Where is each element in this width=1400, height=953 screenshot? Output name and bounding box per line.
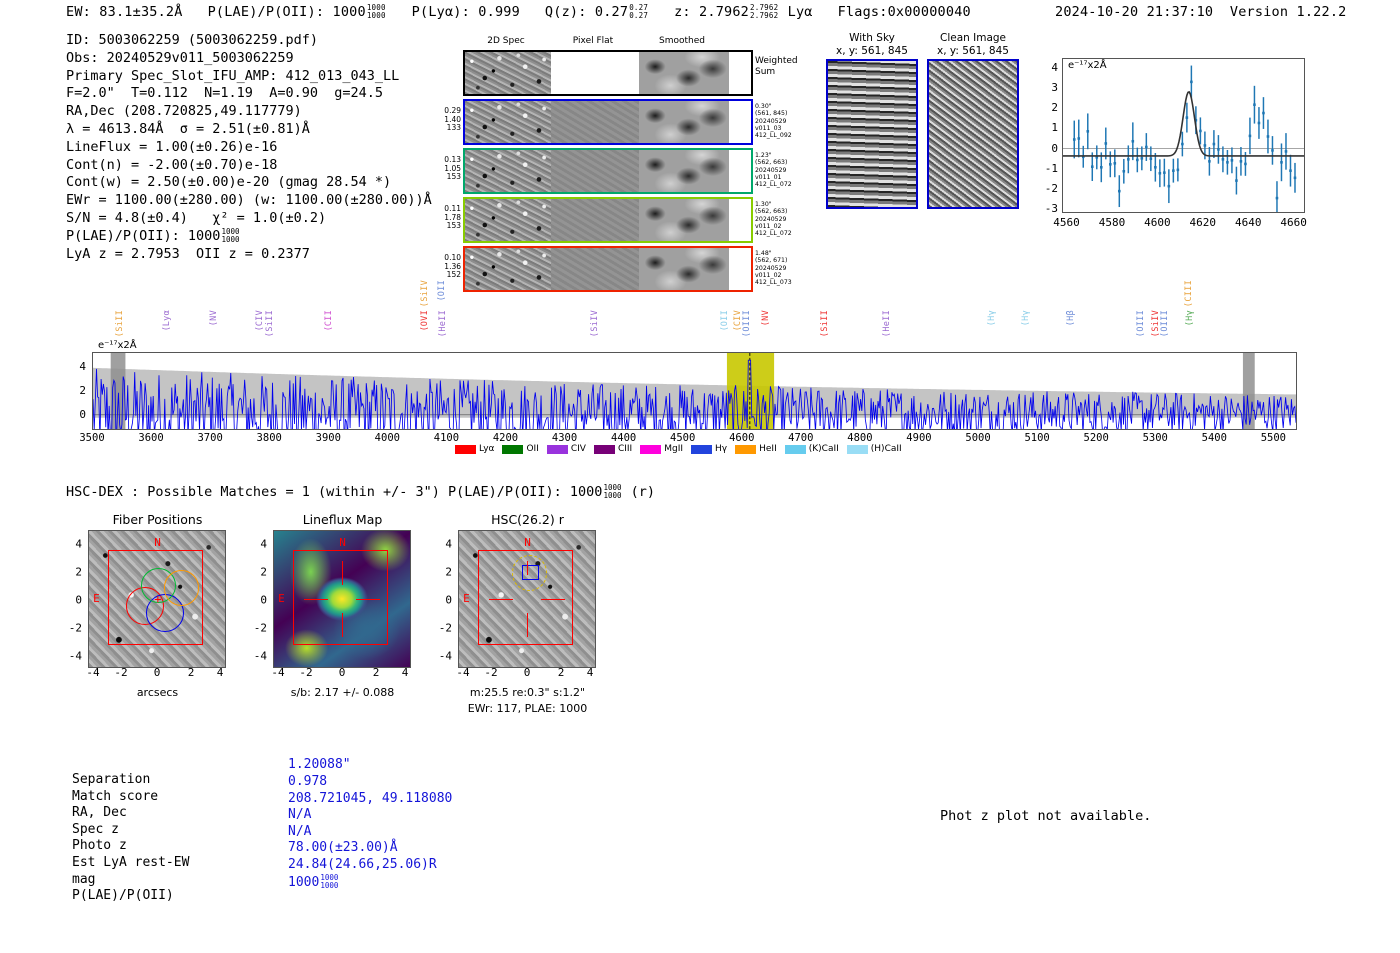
lfm-xtick-0: -4: [271, 666, 284, 679]
legend-item: Hγ: [691, 444, 727, 454]
legend-item: MgII: [640, 444, 683, 454]
match-value: 78.00(±23.00)Å: [288, 840, 398, 857]
legend-swatch: [691, 445, 712, 454]
line-marker: OII(: [437, 280, 447, 302]
weighted-sum-smoothed: [639, 52, 729, 94]
cutout-with-sky: With Sky x, y: 561, 845: [826, 32, 918, 209]
info-line-seeing: F=2.0" T=0.112 N=1.19 A=0.90 g=24.5: [66, 85, 432, 103]
header-z-type: Lyα: [788, 4, 813, 20]
line-marker: SiII(: [265, 310, 275, 337]
line-marker-label: Lyα: [162, 310, 172, 326]
compass-east-label: E: [93, 592, 100, 605]
fiber-2dspec: [465, 199, 551, 241]
hsc-ytick-0: 4: [430, 538, 452, 551]
zoom-ytick: 0: [1040, 142, 1058, 155]
weighted-sum-pixelflat: [551, 52, 639, 94]
legend-item: (K)CaII: [785, 444, 839, 454]
line-marker: SiIV(: [420, 280, 430, 307]
fiber-smoothed: [639, 150, 729, 192]
spec-xtick: 4200: [493, 432, 518, 444]
legend-label: (K)CaII: [809, 444, 839, 454]
with-sky-image: [826, 59, 918, 209]
line-marker-bracket: (: [437, 296, 447, 301]
fiber-pixelflat: [551, 199, 639, 241]
hsc-xtick-1: -2: [484, 666, 497, 679]
lfm-compass-east: E: [278, 592, 285, 605]
header-plae-label: P(LAE)/P(OII): 1000: [208, 4, 366, 20]
fiber-pixelflat: [551, 101, 639, 143]
line-marker-bracket: (: [590, 332, 600, 337]
line-marker-bracket: (: [420, 326, 430, 331]
legend-label: MgII: [664, 444, 683, 454]
source-info-block: ID: 5003062259 (5003062259.pdf) Obs: 202…: [66, 32, 432, 263]
fiber-2dspec: [465, 150, 551, 192]
line-zoom-units: e⁻¹⁷x2Å: [1068, 60, 1107, 71]
fiber-positions-image[interactable]: + N E: [88, 530, 226, 668]
hsc-xtick-2: 0: [524, 666, 531, 679]
legend-label: (H)CaII: [871, 444, 902, 454]
zoom-ytick: 2: [1040, 101, 1058, 114]
line-marker: Hβ(: [1066, 310, 1076, 326]
header-timestamp-version: 2024-10-20 21:37:10 Version 1.22.2: [1055, 4, 1346, 20]
fp-xtick-4: 4: [217, 666, 224, 679]
twod-spec-montage: 2D Spec Pixel Flat Smoothed Weighted Sum…: [463, 36, 753, 295]
line-marker: CII(: [324, 310, 334, 332]
match-label: Separation: [72, 772, 150, 789]
hsc-xtick-0: -4: [456, 666, 469, 679]
legend-label: CIV: [571, 444, 586, 454]
line-marker-label: SiII: [265, 310, 275, 332]
info-line-lambda: λ = 4613.84Å σ = 2.51(±0.81)Å: [66, 121, 432, 139]
legend-swatch: [847, 445, 868, 454]
lfm-ytick-1: 2: [245, 566, 267, 579]
weighted-sum-2dspec: [465, 52, 551, 94]
match-value: 100010001000: [288, 874, 339, 892]
lfm-ytick-0: 4: [245, 538, 267, 551]
hsc-ytick-3: -2: [430, 622, 452, 635]
clean-image-coords: x, y: 561, 845: [927, 45, 1019, 58]
hsc-ytick-2: 0: [430, 594, 452, 607]
hsc-xtick-3: 2: [558, 666, 565, 679]
spec-xtick: 5100: [1024, 432, 1049, 444]
info-line-radec: RA,Dec (208.720825,49.117779): [66, 103, 432, 121]
legend-item: CIII: [594, 444, 632, 454]
info-line-ewr: EWr = 1100.00(±280.00) (w: 1100.00(±280.…: [66, 192, 432, 210]
spec-xtick: 4500: [670, 432, 695, 444]
info-line-z: LyA z = 2.7953 OII z = 0.2377: [66, 246, 432, 264]
hsc-r-metrics: m:25.5 re:0.3" s:1.2": [430, 686, 625, 699]
legend-swatch: [547, 445, 568, 454]
line-marker-label: Hγ: [987, 310, 997, 321]
line-marker-bracket: (: [1136, 332, 1146, 337]
line-marker: Hγ(: [1185, 310, 1195, 326]
line-zoom-plot: e⁻¹⁷x2Å 456045804600462046404660 -3-2-10…: [1040, 50, 1305, 235]
line-marker-bracket: (: [1160, 332, 1170, 337]
spec-xtick: 5000: [965, 432, 990, 444]
header-z-fraction: 2.79622.7962: [750, 4, 778, 20]
fiber-smoothed: [639, 101, 729, 143]
info-line-contw: Cont(w) = 2.50(±0.00)e-20 (gmag 28.54 *): [66, 174, 432, 192]
legend-label: Hγ: [715, 444, 727, 454]
match-label: Photo z: [72, 838, 127, 855]
line-marker-bracket: (: [720, 326, 730, 331]
panel-fiber-positions: Fiber Positions + N E -4 -2 0 2 4 4 2 0 …: [60, 512, 255, 699]
line-marker-bracket: (: [1184, 302, 1194, 307]
fp-ytick-4: -4: [60, 650, 82, 663]
line-marker: NV(: [761, 310, 771, 326]
header-plya: P(Lyα): 0.999: [412, 4, 520, 20]
line-marker-label: SiIV: [420, 280, 430, 302]
hscdex-text: HSC-DEX : Possible Matches = 1 (within +…: [66, 484, 602, 500]
line-marker-bracket: (: [255, 326, 265, 331]
legend-label: Lyα: [479, 444, 494, 454]
line-marker: SiIV(: [590, 310, 600, 337]
line-marker-bracket: (: [1066, 321, 1076, 326]
weighted-sum-label: Weighted Sum: [755, 56, 815, 78]
fiber-smoothed: [639, 199, 729, 241]
header-qz: Q(z): 0.27: [545, 4, 628, 20]
lfm-xtick-3: 2: [373, 666, 380, 679]
spec-xtick: 4700: [788, 432, 813, 444]
clean-image-image: [927, 59, 1019, 209]
fiber-row-values: 0.291.40133: [431, 107, 461, 133]
zoom-xtick: 4580: [1099, 216, 1126, 229]
line-marker-bracket: (: [742, 332, 752, 337]
line-marker-label: HeII: [882, 310, 892, 332]
panel-lineflux-map: Lineflux Map N E -4 -2 0 2 4 4 2 0 -2 -4…: [245, 512, 440, 699]
spec-xtick: 4100: [434, 432, 459, 444]
hscdex-plae-fraction: 10001000: [603, 484, 621, 500]
version: Version 1.22.2: [1230, 4, 1347, 20]
legend-item: HeII: [735, 444, 777, 454]
line-marker-label: SiII: [820, 310, 830, 332]
clean-image-title: Clean Image: [927, 32, 1019, 45]
spec-xtick: 5300: [1143, 432, 1168, 444]
fiber-pixelflat: [551, 150, 639, 192]
lfm-xtick-1: -2: [299, 666, 312, 679]
spec-xtick: 5200: [1084, 432, 1109, 444]
compass-north-label: N: [154, 536, 161, 549]
lfm-compass-north: N: [339, 536, 346, 549]
lineflux-map-title: Lineflux Map: [245, 512, 440, 527]
hsc-crosshair-top: [527, 561, 528, 575]
line-marker-label: OII: [720, 310, 730, 326]
lfm-ytick-4: -4: [245, 650, 267, 663]
zoom-ytick: 3: [1040, 81, 1058, 94]
line-marker-bracket: (: [987, 321, 997, 326]
zoom-xtick: 4640: [1235, 216, 1262, 229]
header-summary-line: EW: 83.1±35.2Å P(LAE)/P(OII): 1000100010…: [66, 4, 971, 20]
hsc-crosshair-right: [541, 599, 565, 600]
montage-fiber-row: 0.111.781531.30"(562, 663)20240529v011_0…: [463, 197, 753, 243]
fiber-positions-xlabel: arcsecs: [60, 686, 255, 699]
spec-xtick: 3700: [197, 432, 222, 444]
line-marker-label: SiII: [115, 310, 125, 332]
hsc-compass-east: E: [463, 592, 470, 605]
line-marker-label: CIII: [1184, 280, 1194, 302]
line-marker-bracket: (: [438, 332, 448, 337]
zoom-xtick: 4600: [1144, 216, 1171, 229]
fp-ytick-3: -2: [60, 622, 82, 635]
hsc-r-image[interactable]: N E: [458, 530, 596, 668]
hscdex-summary: HSC-DEX : Possible Matches = 1 (within +…: [66, 484, 655, 500]
montage-col-pixelflat: Pixel Flat: [549, 36, 637, 46]
match-value: 24.84(24.66,25.06)R: [288, 857, 437, 874]
with-sky-title: With Sky: [826, 32, 918, 45]
spec-xtick: 4600: [729, 432, 754, 444]
hsc-ytick-1: 2: [430, 566, 452, 579]
fiber-row-values: 0.101.36152: [431, 254, 461, 280]
line-marker-label: OIII: [742, 310, 752, 332]
line-marker: OIII(: [1136, 310, 1146, 337]
line-marker: NV(: [209, 310, 219, 326]
full-spectrum-svg: [93, 353, 1296, 429]
line-marker-bracket: (: [882, 332, 892, 337]
line-marker: OIII(: [1160, 310, 1170, 337]
lfm-xtick-2: 0: [339, 666, 346, 679]
montage-fiber-rows: 0.291.401330.30"(561, 845)20240529v011_0…: [463, 99, 753, 292]
fiber-circle-orange: [164, 570, 199, 605]
spec-ytick: 0: [68, 408, 86, 421]
line-marker-bracket: (: [761, 321, 771, 326]
cutout-clean-image: Clean Image x, y: 561, 845: [927, 32, 1019, 209]
hsc-r-ewr-plae: EWr: 117, PLAE: 1000: [430, 702, 625, 715]
spec-xtick: 4000: [375, 432, 400, 444]
hsc-compass-north: N: [524, 536, 531, 549]
legend-swatch: [785, 445, 806, 454]
fp-xtick-1: -2: [114, 666, 127, 679]
fp-xtick-0: -4: [86, 666, 99, 679]
line-marker-bracket: (: [324, 326, 334, 331]
info-line-sn: S/N = 4.8(±0.4) χ² = 1.0(±0.2): [66, 210, 432, 228]
line-marker-label: OVI: [420, 310, 430, 326]
line-marker-bracket: (: [209, 321, 219, 326]
panel-hsc-r: HSC(26.2) r N E -4 -2 0 2 4 4 2 0 -2 -4 …: [430, 512, 625, 715]
match-value: 208.721045, 49.118080: [288, 791, 452, 808]
line-marker-label: OIII: [1160, 310, 1170, 332]
zoom-ytick: 1: [1040, 121, 1058, 134]
spec-xtick: 4300: [552, 432, 577, 444]
line-marker-bracket: (: [1021, 321, 1031, 326]
zoom-xtick: 4660: [1280, 216, 1307, 229]
fiber-positions-title: Fiber Positions: [60, 512, 255, 527]
line-marker-bracket: (: [162, 326, 172, 331]
info-line-obs: Obs: 20240529v011_5003062259: [66, 50, 432, 68]
legend-swatch: [502, 445, 523, 454]
line-marker: OII(: [720, 310, 730, 332]
match-label: P(LAE)/P(OII): [72, 888, 174, 905]
lfm-fov-box: [293, 550, 388, 645]
legend-label: HeII: [759, 444, 777, 454]
fiber-row-meta: 1.23"(562, 663)20240529v011_01412_LL_072: [755, 152, 811, 188]
photz-unavailable-message: Phot z plot not available.: [940, 808, 1151, 824]
match-label: Match score: [72, 789, 158, 806]
lfm-crosshair-left: [304, 599, 328, 600]
zoom-xtick: 4620: [1190, 216, 1217, 229]
fiber-row-meta: 1.30"(562, 663)20240529v011_02412_LL_072: [755, 201, 811, 237]
emission-line-markers: SiII(Lyα(NV(CIV(SiII(CII(SiIV(OII(OVI(He…: [92, 280, 1297, 352]
line-marker-label: NV: [209, 310, 219, 321]
spec-xtick: 5400: [1202, 432, 1227, 444]
match-label: RA, Dec: [72, 805, 127, 822]
match-value: 0.978: [288, 774, 327, 791]
fp-xtick-3: 2: [188, 666, 195, 679]
spec-xtick: 5500: [1261, 432, 1286, 444]
hsc-ytick-4: -4: [430, 650, 452, 663]
line-marker-bracket: (: [265, 332, 275, 337]
hsc-crosshair-bottom: [527, 613, 528, 637]
match-label: mag: [72, 872, 95, 889]
line-marker-label: OII: [437, 280, 447, 296]
montage-weighted-sum-row: Weighted Sum: [463, 50, 753, 96]
legend-swatch: [455, 445, 476, 454]
line-marker-label: CIV: [255, 310, 265, 326]
line-marker: Hγ(: [1021, 310, 1031, 326]
info-line-lineflux: LineFlux = 1.00(±0.26)e-16: [66, 139, 432, 157]
line-marker-label: Hγ: [1185, 310, 1195, 321]
zoom-ytick: -2: [1040, 182, 1058, 195]
fiber-2dspec: [465, 101, 551, 143]
full-spectrum-units: e⁻¹⁷x2Å: [98, 340, 137, 351]
hsc-r-title: HSC(26.2) r: [430, 512, 625, 527]
hsc-xtick-4: 4: [587, 666, 594, 679]
montage-fiber-row: 0.131.051531.23"(562, 663)20240529v011_0…: [463, 148, 753, 194]
line-marker-label: CII: [324, 310, 334, 326]
spec-xtick: 3800: [257, 432, 282, 444]
line-marker-label: SiIV: [590, 310, 600, 332]
line-marker: HeII(: [882, 310, 892, 337]
line-marker-label: Hγ: [1021, 310, 1031, 321]
lfm-crosshair-right: [356, 599, 380, 600]
match-label: Est LyA rest-EW: [72, 855, 189, 872]
line-marker: OIII(: [742, 310, 752, 337]
hscdex-filter: (r): [631, 484, 655, 500]
fiber-row-meta: 0.30"(561, 845)20240529v011_03412_LL_092: [755, 103, 811, 139]
info-line-contn: Cont(n) = -2.00(±0.70)e-18: [66, 157, 432, 175]
zoom-ytick: -1: [1040, 162, 1058, 175]
spec-ytick: 2: [68, 384, 86, 397]
spec-xtick: 3500: [79, 432, 104, 444]
header-z: z: 2.7962: [674, 4, 749, 20]
legend-item: CIV: [547, 444, 586, 454]
info-line-specslot: Primary Spec_Slot_IFU_AMP: 412_013_043_L…: [66, 68, 432, 86]
hsc-crosshair-left: [489, 599, 513, 600]
line-marker-bracket: (: [420, 302, 430, 307]
target-cross: +: [154, 595, 161, 603]
zoom-xtick: 4560: [1053, 216, 1080, 229]
spec-xtick: 4800: [847, 432, 872, 444]
montage-col-smoothed: Smoothed: [637, 36, 727, 46]
legend-swatch: [735, 445, 756, 454]
match-value: 1.20088": [288, 757, 351, 774]
lfm-ytick-2: 0: [245, 594, 267, 607]
spec-xtick: 4900: [906, 432, 931, 444]
line-marker-label: OIII: [1136, 310, 1146, 332]
legend-item: OII: [502, 444, 538, 454]
lineflux-map-sb: s/b: 2.17 +/- 0.088: [245, 686, 440, 699]
line-marker: CIII(: [1184, 280, 1194, 307]
line-marker: OVI(: [420, 310, 430, 332]
legend-swatch: [640, 445, 661, 454]
header-ew: EW: 83.1±35.2Å: [66, 4, 183, 20]
fp-ytick-0: 4: [60, 538, 82, 551]
legend-swatch: [594, 445, 615, 454]
lfm-crosshair-bottom: [342, 613, 343, 637]
line-marker-label: Hβ: [1066, 310, 1076, 321]
line-marker: SiII(: [115, 310, 125, 337]
legend-item: Lyα: [455, 444, 494, 454]
line-marker-bracket: (: [820, 332, 830, 337]
info-line-plae: P(LAE)/P(OII): 100010001000: [66, 228, 432, 246]
info-line-id: ID: 5003062259 (5003062259.pdf): [66, 32, 432, 50]
fp-xtick-2: 0: [154, 666, 161, 679]
header-flags: Flags:0x00000040: [838, 4, 971, 20]
zoom-ytick: -3: [1040, 202, 1058, 215]
zoom-ytick: 4: [1040, 61, 1058, 74]
hsc-match-box: [522, 565, 540, 580]
match-value: N/A: [288, 807, 311, 824]
match-value: N/A: [288, 824, 311, 841]
line-marker-bracket: (: [1185, 321, 1195, 326]
spec-xtick: 3900: [316, 432, 341, 444]
line-marker: CIV(: [255, 310, 265, 332]
lfm-ytick-3: -2: [245, 622, 267, 635]
with-sky-coords: x, y: 561, 845: [826, 45, 918, 58]
spec-xtick: 4400: [611, 432, 636, 444]
montage-col-2dspec: 2D Spec: [463, 36, 549, 46]
line-marker: SiII(: [820, 310, 830, 337]
line-marker: Lyα(: [162, 310, 172, 332]
fp-ytick-1: 2: [60, 566, 82, 579]
lfm-crosshair-top: [342, 561, 343, 585]
fiber-row-values: 0.111.78153: [431, 205, 461, 231]
line-marker: HeII(: [438, 310, 448, 337]
line-marker-label: NV: [761, 310, 771, 321]
spec-xtick: 3600: [138, 432, 163, 444]
legend-label: CIII: [618, 444, 632, 454]
full-spectrum-plot: SiII(Lyα(NV(CIV(SiII(CII(SiIV(OII(OVI(He…: [92, 280, 1297, 465]
line-marker-bracket: (: [115, 332, 125, 337]
timestamp: 2024-10-20 21:37:10: [1055, 4, 1213, 20]
lfm-xtick-4: 4: [402, 666, 409, 679]
lineflux-map-image[interactable]: N E: [273, 530, 411, 668]
header-plae-fraction: 10001000: [367, 4, 386, 20]
line-marker-label: HeII: [438, 310, 448, 332]
line-zoom-svg: [1063, 59, 1304, 212]
legend-item: (H)CaII: [847, 444, 902, 454]
fp-ytick-2: 0: [60, 594, 82, 607]
fiber-row-values: 0.131.05153: [431, 156, 461, 182]
spectrum-legend: LyαOIICIVCIIIMgIIHγHeII(K)CaII(H)CaII: [455, 444, 902, 454]
header-qz-fraction: 0.270.27: [629, 4, 648, 20]
legend-label: OII: [526, 444, 538, 454]
spec-ytick: 4: [68, 360, 86, 373]
line-marker: Hγ(: [987, 310, 997, 326]
match-label: Spec z: [72, 822, 119, 839]
montage-fiber-row: 0.291.401330.30"(561, 845)20240529v011_0…: [463, 99, 753, 145]
